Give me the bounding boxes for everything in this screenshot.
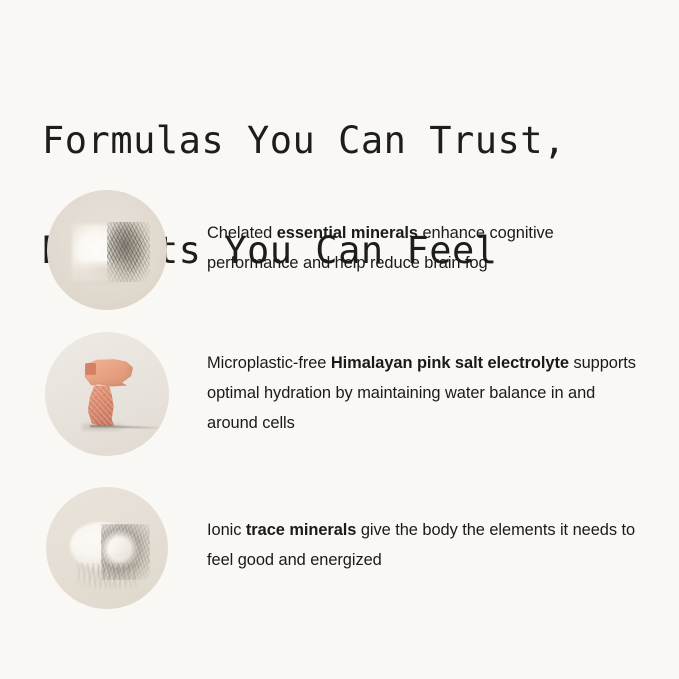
ionic-trace-minerals-image [46,487,168,609]
mineral-powder-photo [47,190,167,310]
feature-list: Chelated essential minerals enhance cogn… [0,190,679,629]
feature-text-bold-1: essential minerals [277,224,418,242]
feature-item-trace-minerals: Ionic trace minerals give the body the e… [0,487,679,607]
feature-item-himalayan-pink-salt: Microplastic-free Himalayan pink salt el… [0,332,679,457]
feature-text-bold-3: trace minerals [246,521,356,539]
feature-text-prefix-2: Microplastic-free [207,354,331,372]
marketing-feature-panel: Formulas You Can Trust, Results You Can … [0,0,679,679]
feature-text-prefix-1: Chelated [207,224,277,242]
powder-spill-shadow [76,262,131,284]
himalayan-pink-salt-image [45,332,169,456]
feature-text-prefix-3: Ionic [207,521,246,539]
feature-description-essential-minerals: Chelated essential minerals enhance cogn… [207,206,679,278]
mineral-scatter-grains [75,563,138,590]
salt-slab-upper-notch [85,363,96,375]
page-title-line-1: Formulas You Can Trust, [42,113,642,168]
feature-description-trace-minerals: Ionic trace minerals give the body the e… [207,503,679,575]
feature-text-bold-2: Himalayan pink salt electrolyte [331,354,569,372]
feature-description-himalayan-pink-salt: Microplastic-free Himalayan pink salt el… [207,348,679,438]
salt-chunk-texture [86,385,118,426]
feature-item-essential-minerals: Chelated essential minerals enhance cogn… [0,190,679,310]
trace-mineral-mound-photo [46,487,168,609]
chelated-minerals-powder-image [47,190,167,310]
pink-salt-photo [45,332,169,456]
